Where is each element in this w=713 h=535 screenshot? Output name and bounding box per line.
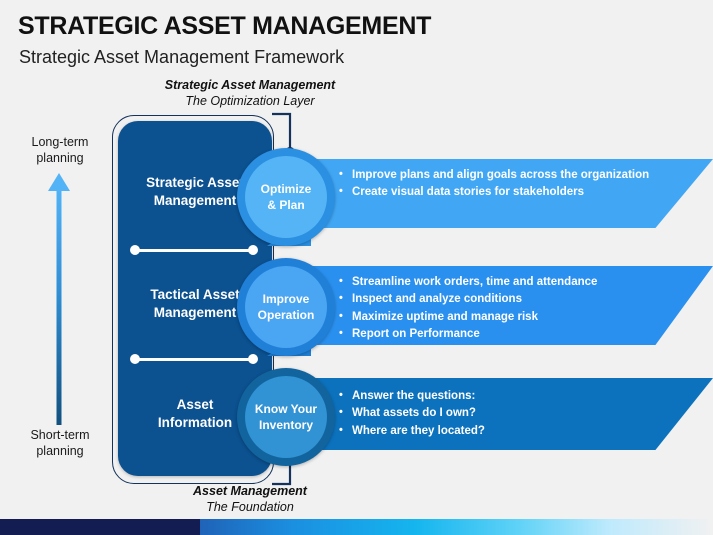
footer-gradient-block xyxy=(200,519,713,535)
list-item: Improve plans and align goals across the… xyxy=(352,167,643,184)
list-item: Streamline work orders, time and attenda… xyxy=(352,274,643,291)
caption-bottom: Asset Management The Foundation xyxy=(110,484,390,515)
banner-2: Answer the questions: What assets do I o… xyxy=(302,378,713,450)
circle-0-line2: & Plan xyxy=(261,197,312,213)
axis-label-short-term-line2: planning xyxy=(14,444,106,460)
tier-0-line2: Management xyxy=(146,192,244,210)
list-item: Answer the questions: xyxy=(352,388,643,405)
caption-top-strong: Strategic Asset Management xyxy=(110,78,390,94)
circle-optimize-plan[interactable]: Optimize & Plan xyxy=(236,148,339,248)
planning-axis: Long-term planning Short-term planning xyxy=(14,135,106,475)
framework-row-inventory: Answer the questions: What assets do I o… xyxy=(236,368,713,468)
circle-1-line2: Operation xyxy=(258,307,315,323)
circle-inner-1: Improve Operation xyxy=(245,266,327,348)
caption-bottom-strong: Asset Management xyxy=(110,484,390,500)
framework-row-optimize: Improve plans and align goals across the… xyxy=(236,148,713,248)
banner-0: Improve plans and align goals across the… xyxy=(302,159,713,228)
circle-inner-0: Optimize & Plan xyxy=(245,156,327,238)
list-item: Where are they located? xyxy=(352,423,643,440)
divider-bar xyxy=(135,358,253,362)
tier-1-line2: Management xyxy=(150,304,239,322)
tier-2-line1: Asset xyxy=(158,396,232,414)
list-item: Maximize uptime and manage risk xyxy=(352,309,643,326)
footer-solid-block xyxy=(0,519,200,535)
list-item: What assets do I own? xyxy=(352,405,643,422)
axis-label-short-term: Short-term planning xyxy=(14,428,106,459)
framework-row-improve: Streamline work orders, time and attenda… xyxy=(236,258,713,358)
caption-bottom-sub: The Foundation xyxy=(110,500,390,516)
page-title: STRATEGIC ASSET MANAGEMENT xyxy=(18,12,431,41)
axis-label-short-term-line1: Short-term xyxy=(14,428,106,444)
caption-top-sub: The Optimization Layer xyxy=(110,94,390,110)
axis-label-long-term: Long-term planning xyxy=(14,135,106,166)
caption-top: Strategic Asset Management The Optimizat… xyxy=(110,78,390,109)
circle-know-your-inventory[interactable]: Know Your Inventory xyxy=(236,368,339,468)
circle-2-line1: Know Your xyxy=(255,401,317,417)
list-item: Inspect and analyze conditions xyxy=(352,291,643,308)
list-item: Create visual data stories for stakehold… xyxy=(352,184,643,201)
banner-1: Streamline work orders, time and attenda… xyxy=(302,266,713,345)
page-subtitle: Strategic Asset Management Framework xyxy=(19,47,344,68)
up-arrow-icon xyxy=(44,173,74,425)
bullet-list-2: Answer the questions: What assets do I o… xyxy=(352,388,643,440)
axis-label-long-term-line2: planning xyxy=(14,151,106,167)
circle-improve-operation[interactable]: Improve Operation xyxy=(236,258,339,358)
tier-2-line2: Information xyxy=(158,414,232,432)
bullet-list-1: Streamline work orders, time and attenda… xyxy=(352,274,643,344)
divider-bar xyxy=(135,249,253,253)
list-item: Report on Performance xyxy=(352,326,643,343)
circle-0-line1: Optimize xyxy=(261,181,312,197)
axis-label-long-term-line1: Long-term xyxy=(14,135,106,151)
footer-bar xyxy=(0,519,713,535)
tier-1-line1: Tactical Asset xyxy=(150,286,239,304)
circle-2-line2: Inventory xyxy=(255,417,317,433)
circle-1-line1: Improve xyxy=(258,291,315,307)
bullet-list-0: Improve plans and align goals across the… xyxy=(352,167,643,202)
circle-inner-2: Know Your Inventory xyxy=(245,376,327,458)
tier-0-line1: Strategic Asset xyxy=(146,174,244,192)
